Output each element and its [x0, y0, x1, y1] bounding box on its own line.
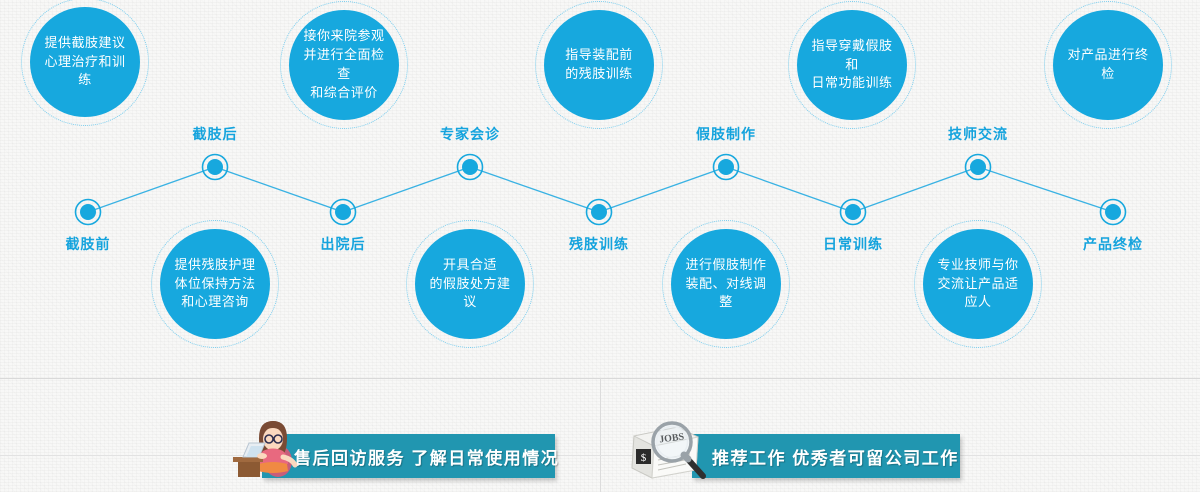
node-label-n5: 残肢训练: [569, 234, 629, 254]
bubble-n8[interactable]: 对产品进行终检: [1053, 10, 1163, 120]
svg-text:JOBS: JOBS: [659, 431, 686, 445]
node-label-n9: 产品终检: [1083, 234, 1143, 254]
bubble-text-n1: 提供截肢建议 心理治疗和训练: [30, 34, 140, 91]
bubble-n2[interactable]: 接你来院参观 并进行全面检查 和综合评价: [289, 10, 399, 120]
bubble-n1[interactable]: 提供截肢建议 心理治疗和训练: [30, 7, 140, 117]
infographic-stage: 截肢前 截肢后 出院后 专家会诊 残肢训练 假肢制作 日常训练 技师交流 产品终…: [0, 0, 1200, 492]
banner-after-sales[interactable]: 售后回访服务 了解日常使用情况: [262, 434, 555, 478]
bubble-text-n3: 提供残肢护理 体位保持方法 和心理咨询: [166, 256, 263, 313]
bubble-text-n6: 指导穿戴假肢和 日常功能训练: [797, 37, 907, 94]
node-label-n4: 专家会诊: [440, 124, 500, 144]
vertical-divider: [600, 378, 601, 492]
bubble-text-n8: 对产品进行终检: [1053, 46, 1163, 84]
banner-job-referral-text: 推荐工作 优秀者可留公司工作: [712, 444, 959, 469]
bubble-text-n2: 接你来院参观 并进行全面检查 和综合评价: [289, 27, 399, 102]
bubble-n9[interactable]: 专业技师与你 交流让产品适应人: [923, 229, 1033, 339]
node-label-n7: 日常训练: [823, 234, 883, 254]
node-label-n3: 出院后: [321, 234, 366, 254]
node-label-n1: 截肢前: [66, 234, 111, 254]
banner-after-sales-text: 售后回访服务 了解日常使用情况: [294, 444, 559, 469]
svg-text:$: $: [641, 452, 647, 464]
banner-job-referral[interactable]: 推荐工作 优秀者可留公司工作: [692, 434, 960, 478]
bubble-n5[interactable]: 开具合适 的假肢处方建议: [415, 229, 525, 339]
timeline-node-dots: [76, 155, 1126, 225]
node-label-n8: 技师交流: [948, 124, 1008, 144]
node-label-n6: 假肢制作: [696, 124, 756, 144]
node-label-n2: 截肢后: [193, 124, 238, 144]
bubble-n7[interactable]: 进行假肢制作 装配、对线调整: [671, 229, 781, 339]
bubble-text-n7: 进行假肢制作 装配、对线调整: [671, 256, 781, 313]
bubble-n4[interactable]: 指导装配前 的残肢训练: [544, 10, 654, 120]
bubble-n3[interactable]: 提供残肢护理 体位保持方法 和心理咨询: [160, 229, 270, 339]
bubble-n6[interactable]: 指导穿戴假肢和 日常功能训练: [797, 10, 907, 120]
bubble-text-n9: 专业技师与你 交流让产品适应人: [923, 256, 1033, 313]
bubble-text-n4: 指导装配前 的残肢训练: [557, 46, 641, 84]
bubble-text-n5: 开具合适 的假肢处方建议: [415, 256, 525, 313]
